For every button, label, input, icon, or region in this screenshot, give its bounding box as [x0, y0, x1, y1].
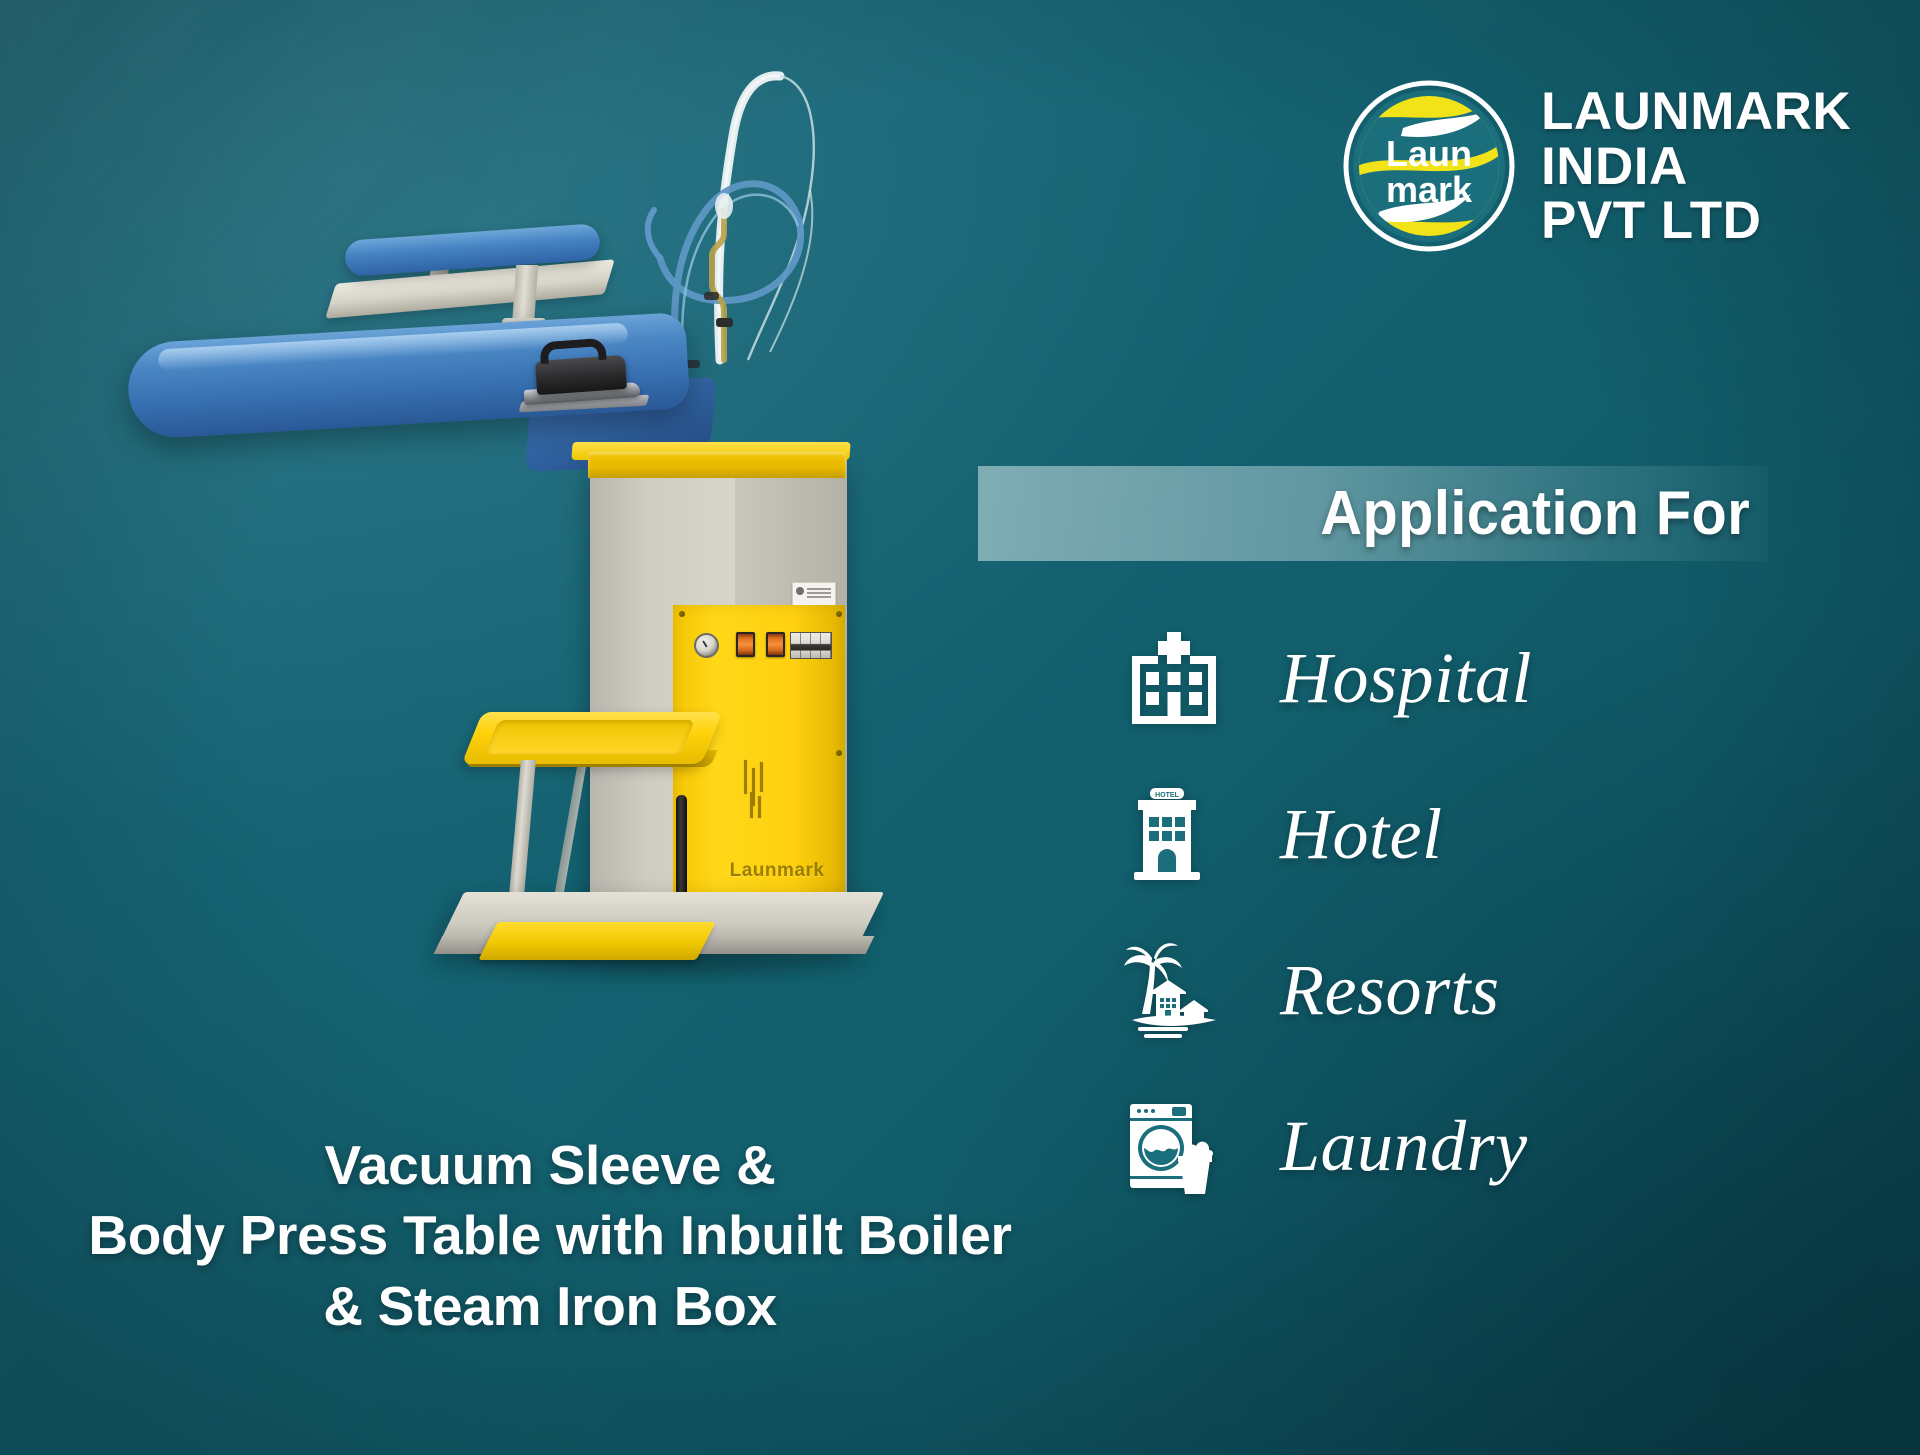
product-caption-line2: Body Press Table with Inbuilt Boiler — [0, 1200, 1100, 1270]
product-caption-line1: Vacuum Sleeve & — [0, 1130, 1100, 1200]
company-name: LAUNMARK INDIA PVT LTD — [1541, 80, 1851, 249]
product-caption: Vacuum Sleeve & Body Press Table with In… — [0, 1130, 1100, 1341]
logo-text-mark: mark — [1386, 169, 1473, 210]
circuit-breaker[interactable] — [790, 632, 832, 659]
cabinet-top-edge — [588, 452, 846, 478]
company-name-line2: INDIA — [1541, 140, 1851, 195]
application-label-resorts: Resorts — [1280, 954, 1500, 1026]
application-label-hotel: Hotel — [1280, 798, 1442, 870]
application-label-laundry: Laundry — [1280, 1110, 1528, 1182]
application-list: Hospital HOTEL — [1120, 600, 1900, 1224]
application-item-hotel: HOTEL Hotel — [1120, 756, 1900, 912]
panel-grille — [740, 760, 772, 820]
poster-canvas: Launmark — [0, 0, 1920, 1455]
hospital-icon — [1120, 624, 1228, 732]
company-name-line3: PVT LTD — [1541, 194, 1851, 249]
logo-text-laun: Laun — [1386, 133, 1472, 174]
hotel-icon: HOTEL — [1120, 780, 1228, 888]
panel-screw — [679, 611, 685, 617]
hotel-sign-text: HOTEL — [1155, 792, 1179, 799]
power-switch[interactable] — [736, 632, 755, 657]
heater-switch[interactable] — [766, 632, 785, 657]
product-photo: Launmark — [120, 60, 960, 1120]
launmark-logo-icon: Laun mark — [1343, 80, 1515, 252]
shelf-recess — [485, 720, 695, 754]
application-item-laundry: Laundry — [1120, 1068, 1900, 1224]
brand-logo-block: Laun mark LAUNMARK INDIA PVT LTD — [1343, 80, 1851, 252]
door-handle[interactable] — [676, 795, 687, 907]
steam-iron-handle — [539, 338, 606, 365]
application-banner: Application For — [978, 466, 1768, 561]
application-label-hospital: Hospital — [1280, 642, 1532, 714]
product-caption-line3: & Steam Iron Box — [0, 1271, 1100, 1341]
foot-pedal[interactable] — [478, 922, 715, 960]
company-name-line1: LAUNMARK — [1541, 85, 1851, 140]
application-item-hospital: Hospital — [1120, 600, 1900, 756]
pressure-gauge — [694, 633, 719, 658]
application-item-resorts: Resorts — [1120, 912, 1900, 1068]
resort-palm-icon — [1120, 936, 1228, 1044]
panel-screw — [836, 611, 842, 617]
application-banner-title: Application For — [1320, 478, 1750, 549]
panel-screw — [836, 750, 842, 756]
machine-brand-text: Launmark — [712, 860, 842, 882]
washing-machine-icon — [1120, 1092, 1228, 1200]
